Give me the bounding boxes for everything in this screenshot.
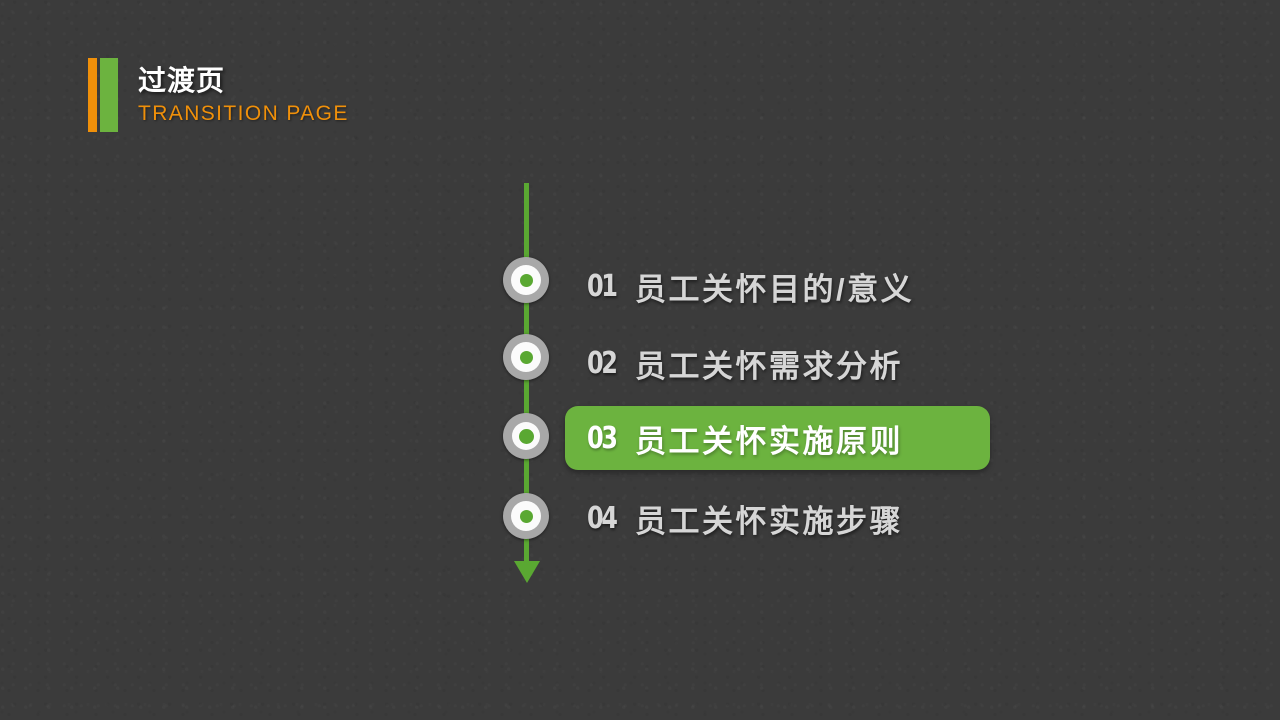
timeline-bullet-02[interactable] <box>503 334 549 380</box>
bullet-ring <box>511 342 541 372</box>
page-title-cn: 过渡页 <box>138 65 349 96</box>
arrow-down-icon <box>514 561 540 583</box>
timeline-bullet-01[interactable] <box>503 257 549 303</box>
timeline-item-label: 员工关怀实施步骤 <box>635 496 903 541</box>
slide-canvas: 过渡页 TRANSITION PAGE 01 员工关怀目的/意义 02 员工关怀… <box>0 0 1280 720</box>
timeline-item-label: 员工关怀实施原则 <box>635 416 903 461</box>
accent-bar-green <box>100 58 118 132</box>
timeline-bullet-03[interactable] <box>503 413 549 459</box>
timeline-item-label: 员工关怀目的/意义 <box>635 264 914 309</box>
timeline-item-number: 04 <box>587 501 625 536</box>
timeline-item-04[interactable]: 04 员工关怀实施步骤 <box>565 486 929 550</box>
timeline-item-01[interactable]: 01 员工关怀目的/意义 <box>565 254 940 318</box>
bullet-dot <box>520 351 533 364</box>
bullet-dot <box>520 274 533 287</box>
page-title-en: TRANSITION PAGE <box>138 100 349 127</box>
header-titles: 过渡页 TRANSITION PAGE <box>138 58 349 132</box>
timeline-item-number: 01 <box>587 269 625 304</box>
accent-bars <box>88 58 118 132</box>
timeline-item-02[interactable]: 02 员工关怀需求分析 <box>565 331 929 395</box>
accent-bar-orange <box>88 58 97 132</box>
timeline-item-number: 03 <box>587 421 625 456</box>
slide-header: 过渡页 TRANSITION PAGE <box>88 58 349 132</box>
timeline-item-number: 02 <box>587 346 625 381</box>
bullet-dot <box>519 429 534 444</box>
timeline-item-label: 员工关怀需求分析 <box>635 341 903 386</box>
bullet-ring <box>511 501 541 531</box>
bullet-dot <box>520 510 533 523</box>
timeline-item-03[interactable]: 03 员工关怀实施原则 <box>565 406 990 470</box>
timeline-bullet-04[interactable] <box>503 493 549 539</box>
bullet-ring <box>511 265 541 295</box>
bullet-ring <box>512 422 540 450</box>
